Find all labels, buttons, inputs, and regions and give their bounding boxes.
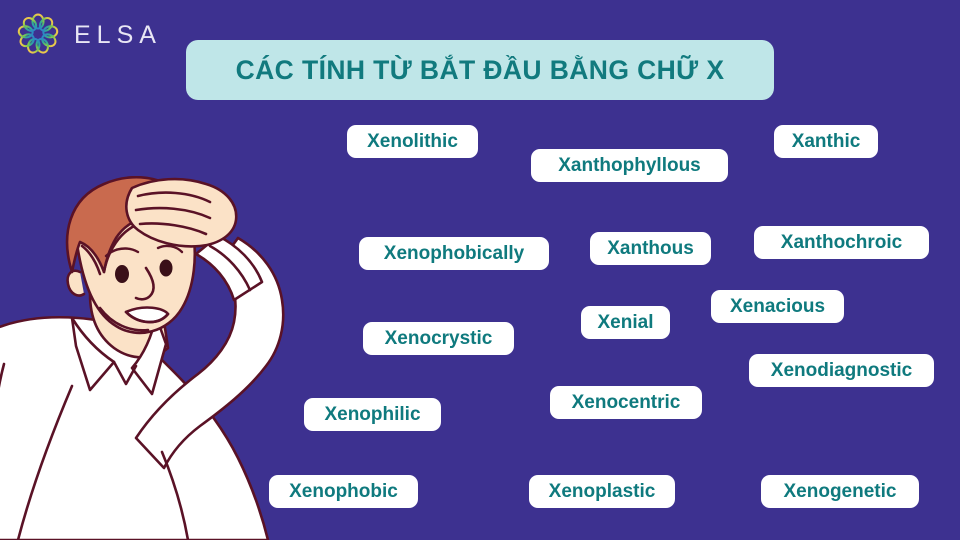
word-chip[interactable]: Xenocrystic (363, 322, 514, 355)
word-chip[interactable]: Xenophobically (359, 237, 549, 270)
word-chip[interactable]: Xenacious (711, 290, 844, 323)
title-banner: CÁC TÍNH TỪ BẮT ĐẦU BẰNG CHỮ X (186, 40, 774, 100)
word-chip[interactable]: Xenocentric (550, 386, 702, 419)
word-chip[interactable]: Xenolithic (347, 125, 478, 158)
word-chip[interactable]: Xenoplastic (529, 475, 675, 508)
page-title: CÁC TÍNH TỪ BẮT ĐẦU BẰNG CHỮ X (236, 55, 725, 86)
elsa-flower-logo-icon (14, 10, 62, 58)
word-chip[interactable]: Xanthic (774, 125, 878, 158)
poster-canvas: ELSA CÁC TÍNH TỪ BẮT ĐẦU BẰNG CHỮ X (0, 0, 960, 540)
word-chip[interactable]: Xenial (581, 306, 670, 339)
word-chip[interactable]: Xenophilic (304, 398, 441, 431)
word-chip[interactable]: Xenogenetic (761, 475, 919, 508)
brand-logo: ELSA (14, 10, 162, 58)
word-chip[interactable]: Xenophobic (269, 475, 418, 508)
word-chip[interactable]: Xenodiagnostic (749, 354, 934, 387)
brand-wordmark: ELSA (74, 21, 162, 48)
word-chip[interactable]: Xanthochroic (754, 226, 929, 259)
word-chip[interactable]: Xanthous (590, 232, 711, 265)
word-chip[interactable]: Xanthophyllous (531, 149, 728, 182)
